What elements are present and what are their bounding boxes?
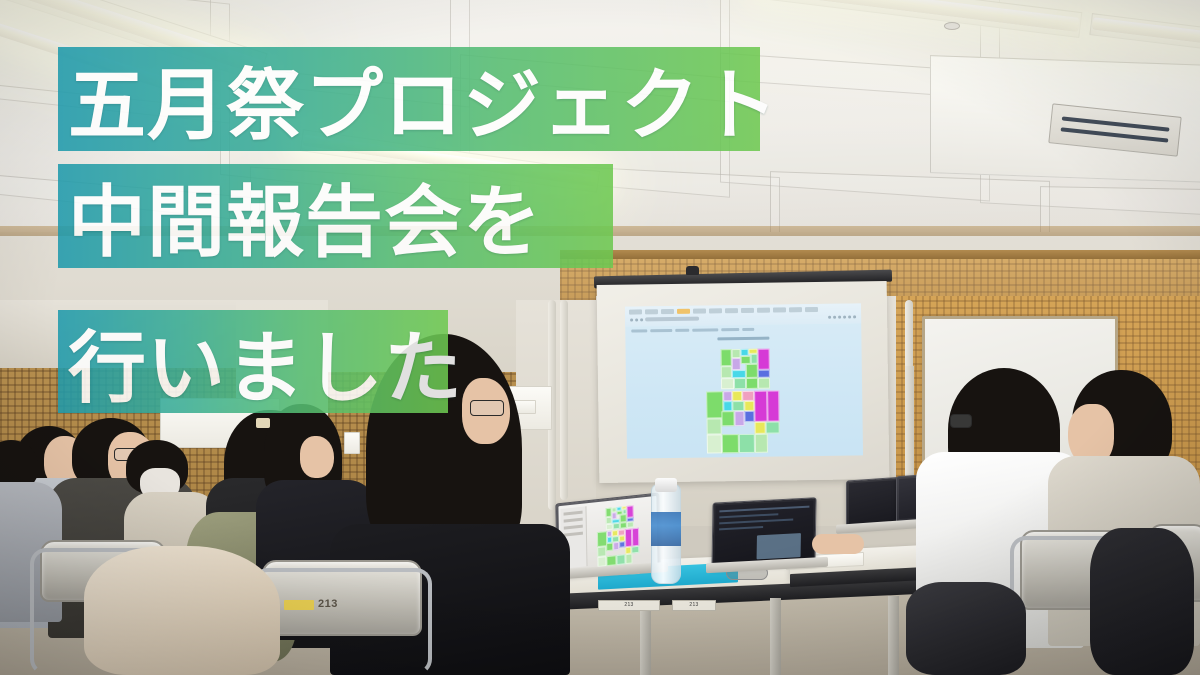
map-cell <box>721 366 733 379</box>
map-cell <box>744 411 754 422</box>
bottle-label <box>651 512 681 546</box>
browser-address-bar <box>630 314 856 321</box>
map-cell <box>744 401 754 412</box>
map-cell <box>758 378 770 389</box>
map-cell <box>616 554 625 565</box>
map-cell <box>734 378 746 389</box>
thumbnail-canvas: 213 213 <box>0 0 1200 675</box>
map-cell <box>722 434 740 453</box>
camera-icon <box>686 266 699 275</box>
browser-bookmarks-bar <box>631 326 855 332</box>
map-cell <box>758 370 770 378</box>
projected-page-title <box>717 337 769 341</box>
browser-chrome <box>625 303 861 326</box>
black-backpack <box>906 582 1026 675</box>
map-cell <box>750 354 758 363</box>
map-cell <box>754 390 768 421</box>
map-cell <box>746 378 759 389</box>
map-cell <box>625 553 633 564</box>
browser-tabs <box>629 306 857 314</box>
map-cell <box>605 524 613 531</box>
desk-label: 213 <box>598 600 660 611</box>
map-cell <box>706 418 722 435</box>
map-cell <box>746 363 759 378</box>
beige-coat <box>84 546 280 675</box>
glasses-icon <box>950 414 972 428</box>
map-cell <box>741 349 749 356</box>
projected-browser-window <box>625 303 863 458</box>
desk-label: 213 <box>672 600 716 611</box>
smoke-detector-icon <box>944 22 960 30</box>
map-cell <box>754 434 768 453</box>
map-cell <box>732 349 741 358</box>
map-cell <box>632 528 639 546</box>
map-cell <box>758 349 770 370</box>
map-cell <box>620 522 627 529</box>
wall-switch <box>344 432 360 454</box>
bottle-cap <box>655 478 677 492</box>
map-cell <box>627 505 634 517</box>
map-cell <box>732 358 741 370</box>
map-cell <box>733 401 745 412</box>
map-cell <box>627 522 634 528</box>
map-cell <box>739 434 755 453</box>
map-cell <box>606 542 614 551</box>
map-cell <box>767 390 779 421</box>
map-cell <box>721 412 735 427</box>
map-cell <box>723 391 733 402</box>
map-cell <box>720 349 732 366</box>
black-backpack <box>1090 528 1194 675</box>
projector-screen <box>598 283 888 481</box>
hand <box>812 534 864 554</box>
map-cell <box>754 422 766 435</box>
scene-photo: 213 213 <box>0 0 1200 675</box>
map-cell <box>733 391 743 402</box>
map-cell <box>735 411 745 426</box>
projected-booth-map <box>696 346 793 451</box>
hair-clip <box>256 418 270 428</box>
map-cell <box>766 421 780 434</box>
map-cell <box>723 401 733 412</box>
map-cell <box>732 370 746 378</box>
map-cell <box>721 378 735 389</box>
glasses-icon <box>470 400 504 416</box>
map-cell <box>706 435 722 454</box>
map-cell <box>742 391 754 402</box>
